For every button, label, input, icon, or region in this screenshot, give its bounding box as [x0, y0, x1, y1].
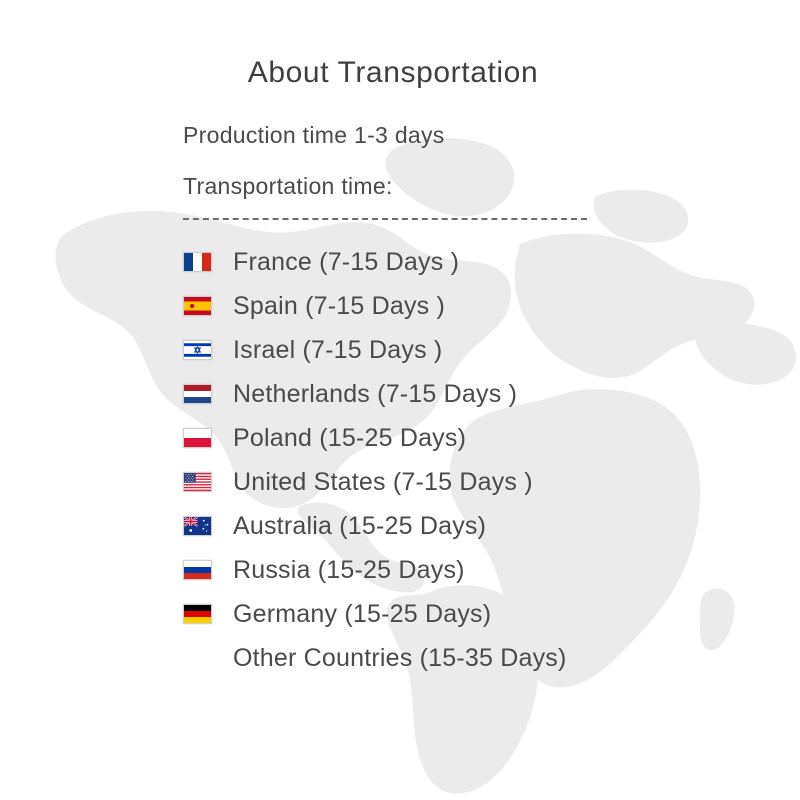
country-eta: (15-25 Days) — [344, 600, 491, 628]
country-eta: (15-25 Days) — [319, 424, 466, 452]
flag-russia-icon — [183, 560, 212, 580]
country-eta: (7-15 Days ) — [303, 336, 443, 364]
country-name: Australia — [233, 512, 332, 540]
country-shipping-list: France (7-15 Days ) Spain (7-15 Days ) — [183, 240, 743, 680]
country-label: Germany (15-25 Days) — [233, 602, 491, 627]
country-label: Other Countries (15-35 Days) — [233, 646, 567, 671]
flag-germany-icon — [183, 604, 212, 624]
flag-israel-icon — [183, 340, 212, 360]
list-item: Poland (15-25 Days) — [183, 416, 743, 460]
flag-netherlands-icon — [183, 384, 212, 404]
flag-slot — [183, 252, 233, 272]
country-label: Australia (15-25 Days) — [233, 514, 486, 539]
list-item: Spain (7-15 Days ) — [183, 284, 743, 328]
list-item: Other Countries (15-35 Days) — [183, 636, 743, 680]
country-label: Israel (7-15 Days ) — [233, 338, 442, 363]
country-name: Israel — [233, 336, 295, 364]
flag-slot — [183, 560, 233, 580]
list-item: Australia (15-25 Days) — [183, 504, 743, 548]
flag-slot — [183, 428, 233, 448]
country-eta: (7-15 Days ) — [319, 248, 459, 276]
country-label: Poland (15-25 Days) — [233, 426, 466, 451]
country-name: Netherlands — [233, 380, 370, 408]
list-item: Israel (7-15 Days ) — [183, 328, 743, 372]
flag-france-icon — [183, 252, 212, 272]
flag-spain-icon — [183, 296, 212, 316]
list-item: Netherlands (7-15 Days ) — [183, 372, 743, 416]
country-name: Other Countries — [233, 644, 412, 672]
country-eta: (15-25 Days) — [339, 512, 486, 540]
flag-poland-icon — [183, 428, 212, 448]
country-name: Germany — [233, 600, 337, 628]
country-eta: (7-15 Days ) — [305, 292, 445, 320]
page-title: About Transportation — [183, 56, 603, 90]
country-label: Netherlands (7-15 Days ) — [233, 382, 517, 407]
list-item: United States (7-15 Days ) — [183, 460, 743, 504]
country-label: Russia (15-25 Days) — [233, 558, 465, 583]
list-item: Russia (15-25 Days) — [183, 548, 743, 592]
country-name: United States — [233, 468, 386, 496]
country-label: Spain (7-15 Days ) — [233, 294, 445, 319]
country-name: France — [233, 248, 312, 276]
flag-slot — [183, 340, 233, 360]
flag-slot — [183, 472, 233, 492]
country-name: Russia — [233, 556, 311, 584]
country-label: France (7-15 Days ) — [233, 250, 459, 275]
dashed-divider — [183, 218, 587, 220]
country-name: Spain — [233, 292, 298, 320]
flag-slot — [183, 516, 233, 536]
transportation-info-page: About Transportation Production time 1-3… — [0, 0, 800, 800]
country-eta: (15-25 Days) — [318, 556, 465, 584]
country-eta: (7-15 Days ) — [377, 380, 517, 408]
country-eta: (15-35 Days) — [420, 644, 567, 672]
flag-slot — [183, 604, 233, 624]
flag-slot — [183, 384, 233, 404]
country-name: Poland — [233, 424, 312, 452]
transportation-time-label: Transportation time: — [183, 173, 393, 200]
production-time-text: Production time 1-3 days — [183, 122, 445, 149]
list-item: France (7-15 Days ) — [183, 240, 743, 284]
flag-australia-icon — [183, 516, 212, 536]
flag-slot — [183, 296, 233, 316]
flag-united-states-icon — [183, 472, 212, 492]
list-item: Germany (15-25 Days) — [183, 592, 743, 636]
country-label: United States (7-15 Days ) — [233, 470, 533, 495]
country-eta: (7-15 Days ) — [393, 468, 533, 496]
